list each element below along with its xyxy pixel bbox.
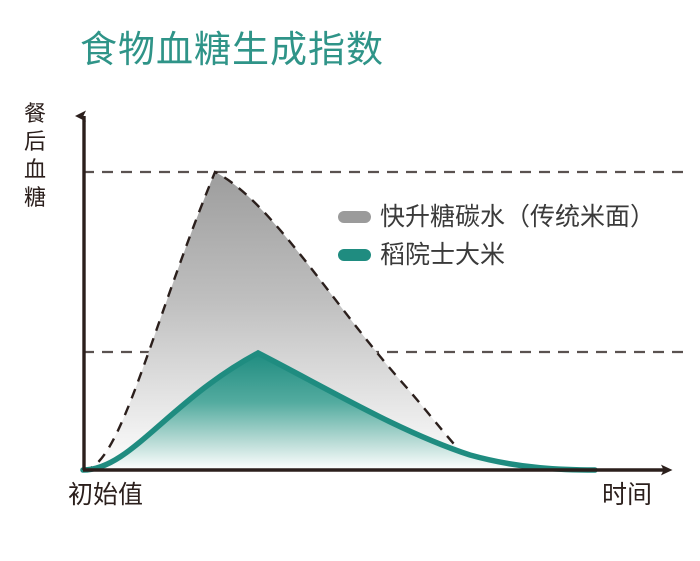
legend-label-fast-carb: 快升糖碳水（传统米面）	[380, 202, 655, 232]
chart-legend: 快升糖碳水（传统米面） 稻院士大米	[338, 200, 655, 272]
legend-item-daoyuanshi-rice[interactable]: 稻院士大米	[338, 238, 655, 272]
legend-swatch-daoyuanshi-rice	[338, 249, 371, 261]
chart-plot-area	[0, 0, 700, 561]
legend-swatch-fast-carb	[338, 211, 371, 223]
legend-label-daoyuanshi-rice: 稻院士大米	[380, 240, 505, 270]
chart-container: 食物血糖生成指数 餐后血糖 初始值 时间	[0, 0, 700, 561]
legend-item-fast-carb[interactable]: 快升糖碳水（传统米面）	[338, 200, 655, 234]
